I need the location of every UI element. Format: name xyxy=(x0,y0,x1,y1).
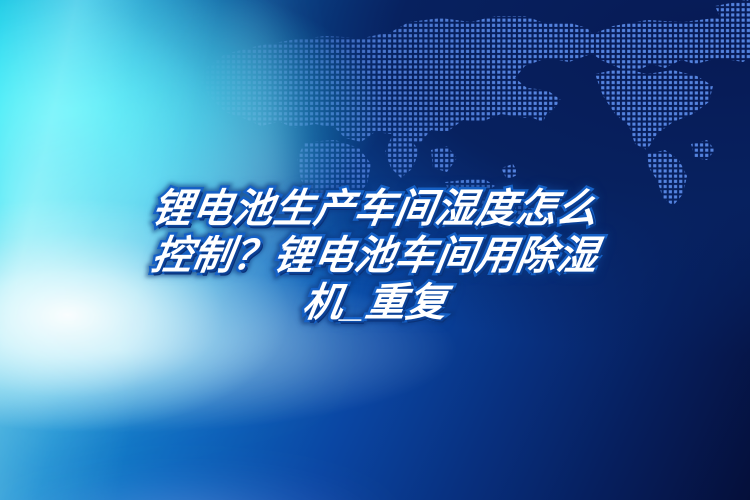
diagonal-light-ray xyxy=(0,0,750,500)
purple-haze-band xyxy=(0,470,520,500)
banner-canvas: 锂电池生产车间湿度怎么 控制？锂电池车间用除湿 机_重复 锂电池生产车间湿度怎么… xyxy=(0,0,750,500)
